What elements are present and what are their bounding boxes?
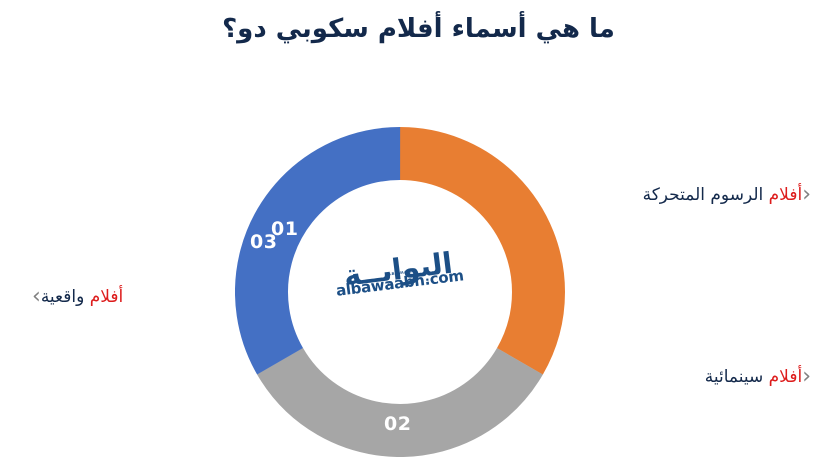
chevron-left-icon: ‹ <box>802 184 811 206</box>
page-title: ما هي أسماء أفلام سكوبي دو؟ <box>0 12 837 46</box>
callout-keyword-live-action-films: أفلام <box>90 287 124 307</box>
callout-text-cinema-films: أفلام سينمائية <box>705 365 802 389</box>
callout-rest-live-action-films: واقعية <box>41 287 85 307</box>
callout-label-cinema-films[interactable]: ‹ أفلام سينمائية <box>585 365 825 389</box>
chevron-right-icon: › <box>32 286 41 308</box>
callout-text-cartoon-films: أفلام الرسوم المتحركة <box>643 183 803 207</box>
callout-label-live-action-films[interactable]: › أفلام واقعية <box>18 285 218 309</box>
callout-keyword-cinema-films: أفلام <box>769 367 803 387</box>
callout-text-live-action-films: أفلام واقعية <box>41 285 123 309</box>
callout-label-cartoon-films[interactable]: ‹ أفلام الرسوم المتحركة <box>585 183 825 207</box>
callout-rest-cartoon-films: الرسوم المتحركة <box>643 185 764 205</box>
chevron-left-icon: ‹ <box>802 366 811 388</box>
callout-keyword-cartoon-films: أفلام <box>769 185 803 205</box>
callout-rest-cinema-films: سينمائية <box>705 367 764 387</box>
